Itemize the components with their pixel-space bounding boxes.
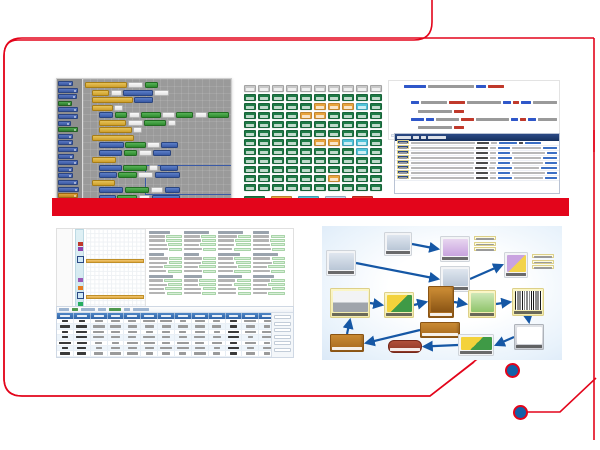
block-y[interactable] <box>85 82 127 88</box>
slot-cell-available[interactable] <box>272 184 284 191</box>
form-field-row[interactable] <box>218 279 251 282</box>
flow-node-order-system[interactable] <box>384 232 412 256</box>
slot-cell-available[interactable] <box>286 148 298 155</box>
slot-cell-reserved[interactable] <box>300 112 312 119</box>
table-cell[interactable] <box>209 324 226 328</box>
slot-cell-available[interactable] <box>286 112 298 119</box>
data-grid-side-buttons[interactable] <box>271 313 293 357</box>
table-cell[interactable] <box>242 324 259 328</box>
form-field-row[interactable] <box>149 265 182 268</box>
slot-cell-available[interactable] <box>300 103 312 110</box>
block-row[interactable] <box>99 150 229 156</box>
slot-cell-available[interactable] <box>314 121 326 128</box>
slot-cell-reserved[interactable] <box>328 103 340 110</box>
slot-cell-header[interactable] <box>286 85 298 92</box>
slot-cell-reserved[interactable] <box>314 139 326 146</box>
code-line[interactable] <box>391 117 557 122</box>
block-bl[interactable] <box>99 142 124 148</box>
palette-block-variable[interactable] <box>58 107 78 112</box>
gantt-bar[interactable] <box>86 295 144 299</box>
table-cell[interactable] <box>242 351 259 355</box>
form-field-row[interactable] <box>184 265 217 268</box>
slot-cell-header[interactable] <box>272 85 284 92</box>
slot-cell-available[interactable] <box>370 94 382 101</box>
slot-cell-available[interactable] <box>356 175 368 182</box>
slot-cell-header[interactable] <box>300 85 312 92</box>
blocks-canvas[interactable] <box>83 79 231 199</box>
form-field-row[interactable] <box>218 283 251 286</box>
block-gr[interactable] <box>141 112 161 118</box>
block-wh[interactable] <box>195 112 207 118</box>
form-field-row[interactable] <box>149 283 182 286</box>
form-field-row[interactable] <box>184 257 217 260</box>
form-field-row[interactable] <box>149 292 182 295</box>
form-field-value[interactable] <box>203 257 216 260</box>
palette-block-variable[interactable] <box>58 147 78 152</box>
flow-node-reject-store[interactable] <box>330 334 364 352</box>
form-field-row[interactable] <box>218 239 251 242</box>
block-gr[interactable] <box>176 112 193 118</box>
grid-side-button[interactable] <box>274 341 291 345</box>
table-cell[interactable] <box>124 341 141 345</box>
table-cell[interactable] <box>108 335 125 339</box>
form-field-value[interactable] <box>271 270 285 273</box>
log-row[interactable] <box>395 176 559 181</box>
gantt-bar[interactable] <box>86 259 144 263</box>
flow-node-inbound-done[interactable] <box>388 340 422 353</box>
block-y[interactable] <box>92 90 109 96</box>
form-field-row[interactable] <box>149 270 182 273</box>
form-field-value[interactable] <box>235 239 250 242</box>
table-cell[interactable] <box>209 351 226 355</box>
slot-cell-available[interactable] <box>314 166 326 173</box>
slot-cell-available[interactable] <box>286 103 298 110</box>
slot-cell-available[interactable] <box>370 112 382 119</box>
slot-cell-available[interactable] <box>370 175 382 182</box>
form-field-row[interactable] <box>149 248 182 251</box>
flow-node-putaway[interactable] <box>458 334 494 356</box>
form-field-value[interactable] <box>168 270 182 273</box>
form-field-row[interactable] <box>149 261 182 264</box>
form-field-row[interactable] <box>149 257 182 260</box>
slot-cell-available[interactable] <box>244 157 256 164</box>
slot-cell-available[interactable] <box>258 121 270 128</box>
table-cell[interactable] <box>74 335 91 339</box>
form-field-row[interactable] <box>218 243 251 246</box>
block-gr[interactable] <box>123 165 147 171</box>
table-cell[interactable] <box>108 341 125 345</box>
slot-cell-available[interactable] <box>328 166 340 173</box>
slot-cell-available[interactable] <box>314 94 326 101</box>
table-cell[interactable] <box>192 335 209 339</box>
grid-side-button[interactable] <box>274 328 291 332</box>
form-field-row[interactable] <box>253 248 286 251</box>
table-cell[interactable] <box>175 341 192 345</box>
table-cell[interactable] <box>91 319 108 323</box>
blocks-palette[interactable] <box>57 79 83 199</box>
form-field-value[interactable] <box>166 239 181 242</box>
slot-cell-available[interactable] <box>272 148 284 155</box>
form-field-row[interactable] <box>218 287 251 290</box>
slot-cell-available[interactable] <box>356 166 368 173</box>
timeline-node[interactable] <box>77 292 84 299</box>
form-field-value[interactable] <box>237 279 251 282</box>
grid-side-button[interactable] <box>274 335 291 339</box>
block-gr[interactable] <box>145 82 158 88</box>
table-cell[interactable] <box>158 341 175 345</box>
block-bl[interactable] <box>153 150 171 156</box>
schedule-form-fields[interactable] <box>147 229 293 317</box>
slot-cell-available[interactable] <box>300 175 312 182</box>
slot-cell-header[interactable] <box>370 85 382 92</box>
block-gr[interactable] <box>118 172 137 178</box>
console-log-panel[interactable] <box>394 133 560 194</box>
table-cell[interactable] <box>74 351 91 355</box>
form-field-value[interactable] <box>272 287 285 290</box>
form-field-row[interactable] <box>253 270 286 273</box>
palette-block-variable[interactable] <box>58 81 73 86</box>
grid-side-button[interactable] <box>274 315 291 319</box>
slot-cell-available[interactable] <box>258 139 270 146</box>
slot-cell-available[interactable] <box>244 139 256 146</box>
form-field-row[interactable] <box>184 292 217 295</box>
code-line[interactable] <box>391 92 557 97</box>
form-field-row[interactable] <box>218 248 251 251</box>
form-field-value[interactable] <box>201 235 216 238</box>
form-field-row[interactable] <box>184 248 217 251</box>
block-row[interactable] <box>92 105 229 111</box>
slot-cell-available[interactable] <box>272 121 284 128</box>
form-field-row[interactable] <box>218 235 251 238</box>
form-column[interactable] <box>183 231 218 297</box>
palette-block-variable[interactable] <box>58 180 78 185</box>
slot-cell-available[interactable] <box>328 112 340 119</box>
form-field-row[interactable] <box>149 235 182 238</box>
table-cell[interactable] <box>158 346 175 350</box>
form-field-value[interactable] <box>169 257 182 260</box>
form-field-row[interactable] <box>149 279 182 282</box>
inventory-data-grid-panel[interactable] <box>56 306 294 358</box>
flow-node-document-store[interactable] <box>504 252 528 278</box>
table-cell[interactable] <box>192 341 209 345</box>
form-field-row[interactable] <box>253 287 286 290</box>
slot-cell-available[interactable] <box>314 175 326 182</box>
block-y[interactable] <box>92 97 133 103</box>
table-cell[interactable] <box>91 351 108 355</box>
slot-cell-available[interactable] <box>286 121 298 128</box>
code-line[interactable] <box>391 100 557 105</box>
palette-block-variable[interactable] <box>58 140 73 145</box>
grid-side-button[interactable] <box>274 322 291 326</box>
form-field-row[interactable] <box>218 261 251 264</box>
table-cell[interactable] <box>192 330 209 334</box>
block-bl[interactable] <box>99 150 122 156</box>
block-row[interactable] <box>99 112 229 118</box>
form-field-value[interactable] <box>236 243 251 246</box>
slot-cell-available[interactable] <box>272 157 284 164</box>
slot-cell-available[interactable] <box>314 130 326 137</box>
slot-cell-available[interactable] <box>286 175 298 182</box>
slot-cell-available[interactable] <box>370 121 382 128</box>
block-wh[interactable] <box>129 112 140 118</box>
toolbar-chip[interactable] <box>72 308 78 311</box>
slot-cell-available[interactable] <box>272 175 284 182</box>
block-gr[interactable] <box>125 142 146 148</box>
block-bl[interactable] <box>99 187 123 193</box>
form-field-value[interactable] <box>238 292 251 295</box>
slot-cell-available[interactable] <box>244 175 256 182</box>
slot-cell-available[interactable] <box>286 130 298 137</box>
toolbar-chip[interactable] <box>124 308 130 311</box>
table-cell[interactable] <box>57 346 74 350</box>
slot-cell-available[interactable] <box>272 94 284 101</box>
slot-cell-available[interactable] <box>272 130 284 137</box>
form-field-value[interactable] <box>270 239 285 242</box>
block-gr[interactable] <box>115 112 128 118</box>
slot-cell-available[interactable] <box>370 184 382 191</box>
table-cell[interactable] <box>226 351 243 355</box>
table-cell[interactable] <box>158 319 175 323</box>
form-field-value[interactable] <box>168 283 181 286</box>
table-cell[interactable] <box>124 351 141 355</box>
slot-cell-header[interactable] <box>258 85 270 92</box>
slot-cell-header[interactable] <box>356 85 368 92</box>
block-row[interactable] <box>99 127 229 133</box>
slot-cell-available[interactable] <box>328 148 340 155</box>
form-field-row[interactable] <box>184 270 217 273</box>
slot-cell-available[interactable] <box>356 157 368 164</box>
form-field-value[interactable] <box>268 283 285 286</box>
form-field-row[interactable] <box>149 243 182 246</box>
block-y[interactable] <box>92 135 134 141</box>
block-row[interactable] <box>92 135 229 141</box>
code-lines[interactable] <box>391 84 557 138</box>
slot-cell-in_transit[interactable] <box>356 103 368 110</box>
form-field-row[interactable] <box>184 287 217 290</box>
table-cell[interactable] <box>158 351 175 355</box>
form-field-value[interactable] <box>238 265 251 268</box>
table-cell[interactable] <box>57 341 74 345</box>
block-wh[interactable] <box>162 112 174 118</box>
form-field-value[interactable] <box>203 270 216 273</box>
table-cell[interactable] <box>226 335 243 339</box>
slot-cell-header[interactable] <box>244 85 256 92</box>
slot-cell-available[interactable] <box>244 166 256 173</box>
table-cell[interactable] <box>57 330 74 334</box>
warehouse-slot-grid-panel[interactable] <box>243 84 383 200</box>
block-bl[interactable] <box>161 142 178 148</box>
form-field-row[interactable] <box>184 239 217 242</box>
table-cell[interactable] <box>124 346 141 350</box>
palette-block-variable[interactable] <box>58 94 77 99</box>
slot-cell-available[interactable] <box>314 184 326 191</box>
form-column[interactable] <box>252 231 287 297</box>
table-cell[interactable] <box>192 319 209 323</box>
table-cell[interactable] <box>74 341 91 345</box>
form-field-row[interactable] <box>253 243 286 246</box>
table-cell[interactable] <box>91 346 108 350</box>
block-wh[interactable] <box>149 165 159 171</box>
slot-cell-in_transit[interactable] <box>356 148 368 155</box>
slot-cell-header[interactable] <box>314 85 326 92</box>
table-cell[interactable] <box>124 324 141 328</box>
slot-cell-available[interactable] <box>272 166 284 173</box>
table-cell[interactable] <box>226 330 243 334</box>
form-field-value[interactable] <box>164 279 181 282</box>
slot-grid[interactable] <box>243 84 383 192</box>
slot-cell-available[interactable] <box>258 157 270 164</box>
data-grid-body[interactable] <box>57 319 293 357</box>
slot-cell-available[interactable] <box>300 139 312 146</box>
form-field-value[interactable] <box>272 248 285 251</box>
table-cell[interactable] <box>141 341 158 345</box>
form-field-row[interactable] <box>253 257 286 260</box>
gantt-grid[interactable] <box>86 229 146 317</box>
form-field-row[interactable] <box>253 261 286 264</box>
slot-cell-available[interactable] <box>258 166 270 173</box>
timeline-node[interactable] <box>77 256 84 263</box>
block-bl[interactable] <box>160 165 179 171</box>
form-field-value[interactable] <box>169 261 182 264</box>
table-cell[interactable] <box>57 335 74 339</box>
slot-cell-available[interactable] <box>370 130 382 137</box>
palette-block-variable[interactable] <box>58 154 74 159</box>
slot-cell-header[interactable] <box>328 85 340 92</box>
form-column[interactable] <box>217 231 252 297</box>
form-field-value[interactable] <box>168 243 182 246</box>
block-bl[interactable] <box>134 97 153 103</box>
slot-cell-available[interactable] <box>244 148 256 155</box>
block-y[interactable] <box>92 105 113 111</box>
table-cell[interactable] <box>209 319 226 323</box>
slot-cell-available[interactable] <box>300 130 312 137</box>
slot-cell-in_transit[interactable] <box>356 139 368 146</box>
schedule-timeline-rail[interactable] <box>75 229 84 317</box>
form-field-row[interactable] <box>184 283 217 286</box>
block-wh[interactable] <box>128 120 143 126</box>
block-wh[interactable] <box>151 187 163 193</box>
slot-cell-reserved[interactable] <box>314 112 326 119</box>
slot-cell-reserved[interactable] <box>342 103 354 110</box>
table-cell[interactable] <box>175 319 192 323</box>
form-field-row[interactable] <box>218 292 251 295</box>
form-field-value[interactable] <box>166 235 181 238</box>
block-gr[interactable] <box>125 187 150 193</box>
slot-cell-available[interactable] <box>342 184 354 191</box>
form-field-value[interactable] <box>268 292 285 295</box>
table-cell[interactable] <box>226 319 243 323</box>
slot-cell-available[interactable] <box>244 94 256 101</box>
table-cell[interactable] <box>141 346 158 350</box>
table-cell[interactable] <box>226 324 243 328</box>
form-field-row[interactable] <box>149 239 182 242</box>
form-field-value[interactable] <box>200 243 216 246</box>
form-field-row[interactable] <box>218 257 251 260</box>
palette-block-variable[interactable] <box>58 173 73 178</box>
toolbar-chip[interactable] <box>109 308 121 311</box>
code-line[interactable] <box>391 84 557 89</box>
table-cell[interactable] <box>175 346 192 350</box>
palette-block-variable[interactable] <box>58 160 78 165</box>
block-bl[interactable] <box>99 165 122 171</box>
palette-block-variable[interactable] <box>58 88 78 93</box>
slot-cell-available[interactable] <box>300 121 312 128</box>
table-cell[interactable] <box>74 330 91 334</box>
block-wh[interactable] <box>147 142 159 148</box>
palette-block-text[interactable] <box>58 101 72 106</box>
table-cell[interactable] <box>74 319 91 323</box>
slot-cell-available[interactable] <box>370 103 382 110</box>
block-y[interactable] <box>92 180 115 186</box>
timeline-marker[interactable] <box>78 278 83 282</box>
form-field-value[interactable] <box>202 261 216 264</box>
slot-cell-in_transit[interactable] <box>342 139 354 146</box>
slot-cell-available[interactable] <box>300 157 312 164</box>
slot-cell-available[interactable] <box>370 139 382 146</box>
form-field-value[interactable] <box>234 257 251 260</box>
slot-cell-available[interactable] <box>286 184 298 191</box>
table-cell[interactable] <box>141 324 158 328</box>
slot-cell-available[interactable] <box>272 103 284 110</box>
code-line[interactable] <box>391 125 557 130</box>
block-y[interactable] <box>92 157 116 163</box>
table-cell[interactable] <box>175 351 192 355</box>
block-gr[interactable] <box>124 150 137 156</box>
slot-cell-available[interactable] <box>258 112 270 119</box>
slot-cell-header[interactable] <box>342 85 354 92</box>
code-editor-panel[interactable] <box>388 80 560 140</box>
block-row[interactable] <box>99 120 229 126</box>
table-cell[interactable] <box>57 319 74 323</box>
toolbar-chip[interactable] <box>98 308 106 311</box>
form-field-value[interactable] <box>203 248 216 251</box>
table-cell[interactable] <box>141 330 158 334</box>
slot-cell-available[interactable] <box>342 121 354 128</box>
table-cell[interactable] <box>124 330 141 334</box>
slot-cell-available[interactable] <box>258 175 270 182</box>
block-gr[interactable] <box>144 120 166 126</box>
block-wh[interactable] <box>128 82 143 88</box>
slot-cell-available[interactable] <box>356 121 368 128</box>
block-y[interactable] <box>99 120 126 126</box>
timeline-marker[interactable] <box>78 247 83 251</box>
block-bl[interactable] <box>155 172 181 178</box>
slot-cell-available[interactable] <box>286 139 298 146</box>
table-cell[interactable] <box>74 324 91 328</box>
block-bl[interactable] <box>123 90 153 96</box>
form-field-row[interactable] <box>184 243 217 246</box>
slot-cell-available[interactable] <box>342 157 354 164</box>
form-field-value[interactable] <box>236 261 251 264</box>
table-cell[interactable] <box>209 335 226 339</box>
table-cell[interactable] <box>192 346 209 350</box>
flow-node-quality-check[interactable] <box>468 290 496 318</box>
toolbar-chip[interactable] <box>133 308 149 311</box>
table-cell[interactable] <box>141 335 158 339</box>
form-field-value[interactable] <box>199 265 216 268</box>
form-field-row[interactable] <box>253 235 286 238</box>
timeline-marker[interactable] <box>78 286 83 290</box>
form-field-value[interactable] <box>164 265 181 268</box>
form-field-value[interactable] <box>202 239 216 242</box>
block-wh[interactable] <box>114 105 123 111</box>
table-cell[interactable] <box>209 341 226 345</box>
form-field-value[interactable] <box>271 235 286 238</box>
table-cell[interactable] <box>242 319 259 323</box>
form-field-value[interactable] <box>199 283 216 286</box>
block-row[interactable] <box>92 97 229 103</box>
table-cell[interactable] <box>108 346 125 350</box>
